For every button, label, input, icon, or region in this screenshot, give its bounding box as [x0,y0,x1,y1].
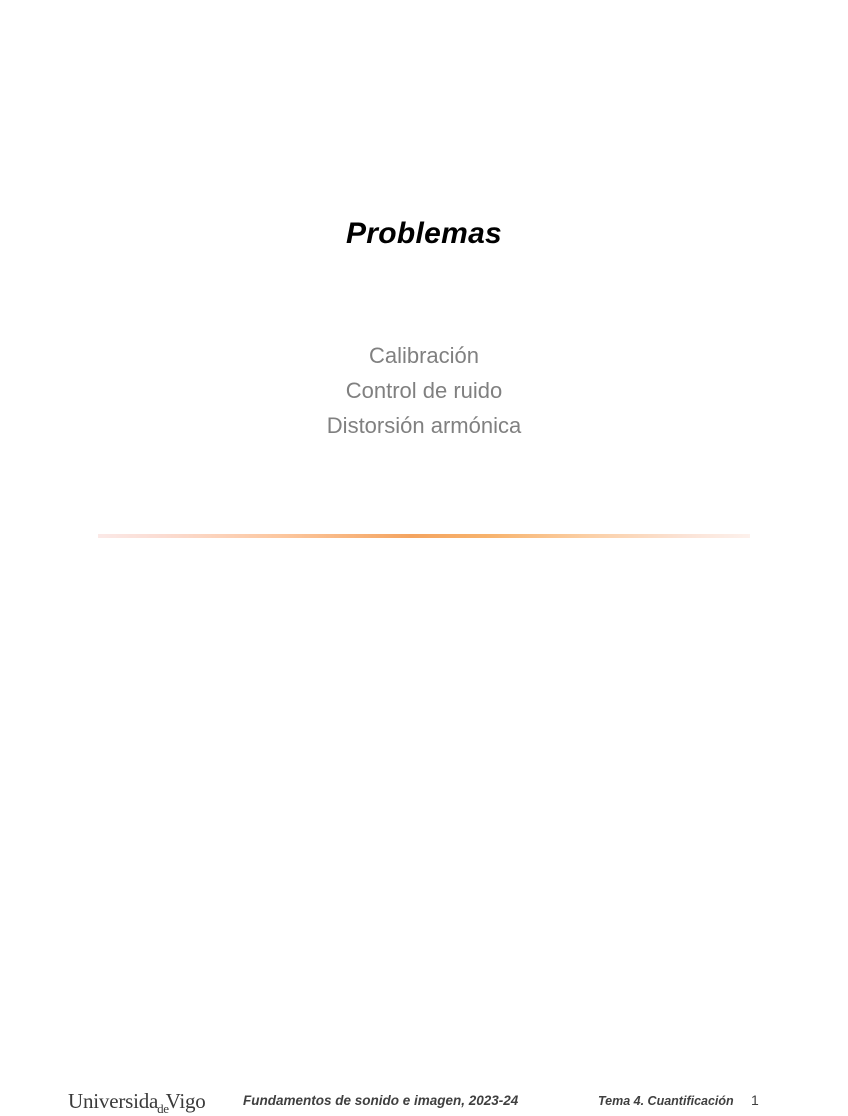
slide-footer: UniversidadeVigo Fundamentos de sonido e… [0,542,848,582]
footer-divider-rule [98,534,750,538]
subtitle-block: Calibración Control de ruido Distorsión … [0,338,848,443]
subtitle-line-distorsion-armonica: Distorsión armónica [0,408,848,443]
title-block: Problemas [0,215,848,253]
subtitle-line-calibracion: Calibración [0,338,848,373]
footer-topic-title: Tema 4. Cuantificación [598,1094,734,1108]
slide-title: Problemas [0,215,848,253]
footer-course-title: Fundamentos de sonido e imagen, 2023-24 [243,1093,518,1108]
logo-text-universida: Universida [68,1089,158,1113]
universidade-de-vigo-logo: UniversidadeVigo [68,1089,210,1116]
footer-page-number: 1 [751,1092,759,1108]
logo-text-vigo: Vigo [166,1089,206,1113]
subtitle-line-control-de-ruido: Control de ruido [0,373,848,408]
presentation-slide: Problemas Calibración Control de ruido D… [0,0,848,599]
